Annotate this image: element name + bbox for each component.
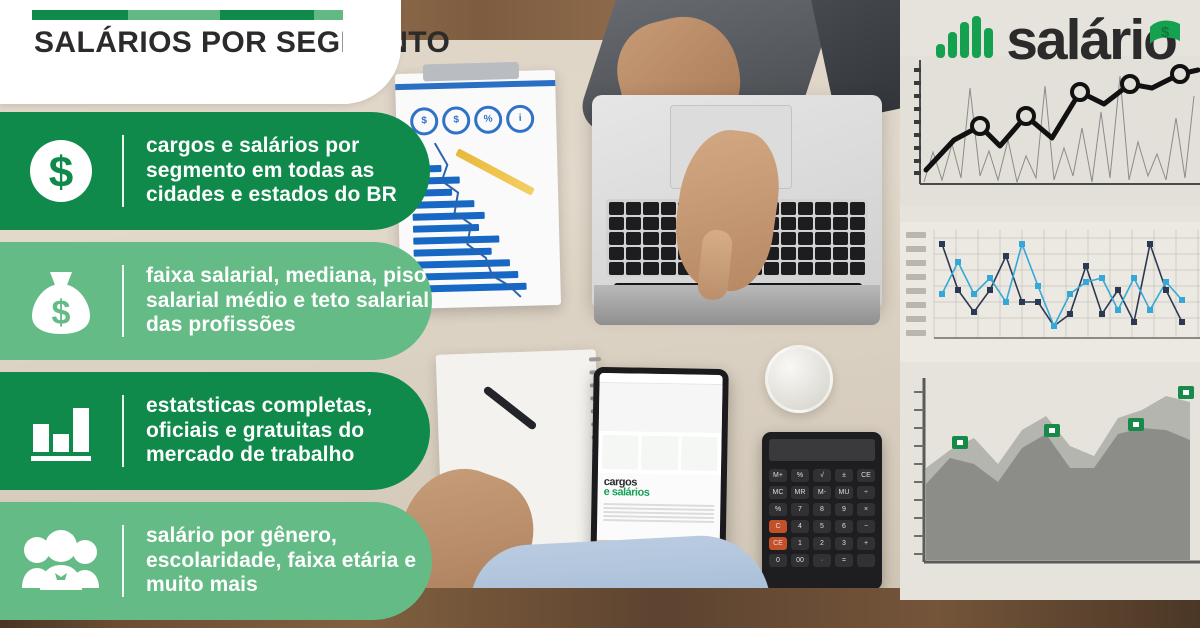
site-body-text: [597, 503, 720, 523]
feature-card-text: faixa salarial, mediana, piso salarial m…: [124, 264, 432, 338]
page-title: SALÁRIOS POR SEGMENTO: [34, 26, 394, 60]
title-banner: SALÁRIOS POR SEGMENTO: [0, 0, 400, 104]
dual-series-grid-chart: [900, 222, 1200, 362]
infographic-banner: $ $ % i: [0, 0, 1200, 628]
feature-card-cargos-salarios[interactable]: $ cargos e salários por segmento em toda…: [0, 112, 430, 230]
feature-card-text: salário por gênero, escolaridade, faixa …: [124, 524, 432, 598]
feature-card-text: cargos e salários por segmento em todas …: [124, 134, 430, 208]
laptop-screen-base: [594, 285, 880, 325]
feature-card-faixa-salarial[interactable]: $ faixa salarial, mediana, piso salarial…: [0, 242, 432, 360]
site-feature-cards: [598, 431, 722, 475]
title-tick-bar: [32, 10, 388, 20]
site-heading-line2: e salários: [604, 487, 715, 499]
svg-text:$: $: [1161, 24, 1170, 41]
dollar-circle-icon: $: [0, 137, 122, 205]
site-cargos-salarios-block: cargos e salários: [597, 473, 720, 503]
dollar-bill-icon: $: [1146, 15, 1190, 59]
feature-card-salario-genero[interactable]: salário por gênero, escolaridade, faixa …: [0, 502, 432, 620]
drinking-glass: [765, 345, 833, 413]
stacked-area-chart: [900, 372, 1200, 600]
charts-panel: [900, 0, 1200, 600]
trend-line-chart: [900, 56, 1200, 206]
people-group-icon: [0, 530, 122, 592]
bar-chart-icon: [0, 398, 122, 464]
money-bag-icon: $: [0, 266, 122, 336]
calculator: M+%√±CE MCMRM-MU÷ %789× C456− CE123+ 000…: [762, 432, 882, 590]
feature-card-text: estatsticas completas, oficiais e gratui…: [124, 394, 430, 468]
brand-logo[interactable]: salário $: [934, 14, 1190, 66]
calculator-display: [769, 439, 875, 461]
feature-card-estatisticas[interactable]: estatsticas completas, oficiais e gratui…: [0, 372, 430, 490]
calculator-keypad: M+%√±CE MCMRM-MU÷ %789× C456− CE123+ 000…: [769, 469, 875, 567]
bar-chart-logo-icon: [934, 14, 1000, 66]
svg-text:$: $: [49, 148, 73, 197]
site-hero-section: [599, 383, 723, 433]
svg-text:$: $: [52, 294, 71, 332]
